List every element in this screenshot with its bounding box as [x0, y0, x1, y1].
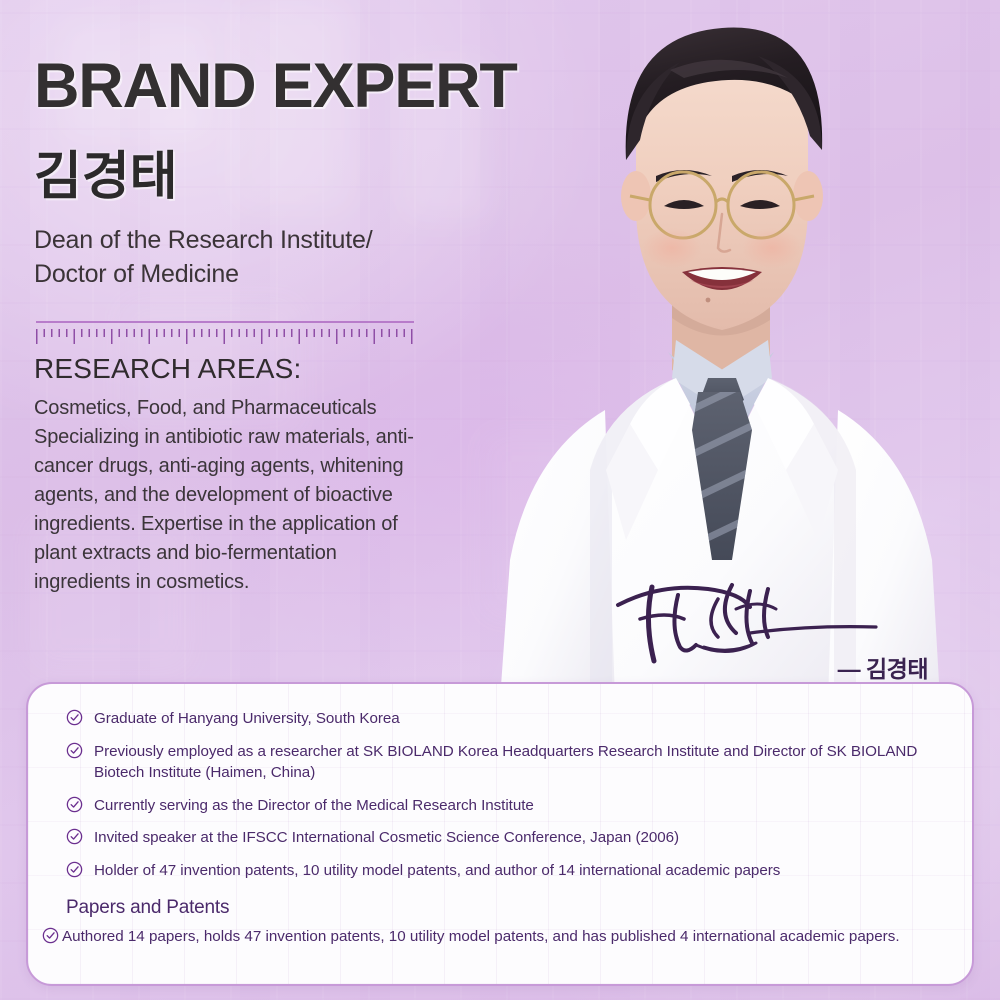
ruler-divider — [36, 321, 414, 345]
page-title: BRAND EXPERT — [34, 55, 620, 118]
research-areas-body: Cosmetics, Food, and Pharmaceuticals Spe… — [34, 394, 434, 597]
check-circle-icon — [66, 828, 83, 845]
role-line-2: Doctor of Medicine — [34, 257, 620, 291]
list-item: Graduate of Hanyang University, South Ko… — [66, 708, 950, 730]
check-circle-icon — [66, 861, 83, 878]
role-line-1: Dean of the Research Institute/ — [34, 223, 620, 257]
credential-text: Previously employed as a researcher at S… — [94, 741, 950, 784]
credential-text: Invited speaker at the IFSCC Internation… — [94, 827, 679, 849]
signature-name: — 김경태 — [838, 650, 928, 684]
list-item: Previously employed as a researcher at S… — [66, 741, 950, 784]
divider-line — [36, 321, 414, 323]
credentials-card: Graduate of Hanyang University, South Ko… — [26, 682, 974, 986]
list-item: Currently serving as the Director of the… — [66, 795, 950, 817]
role-text: Dean of the Research Institute/ Doctor o… — [34, 223, 620, 291]
check-circle-icon — [42, 927, 59, 949]
credential-text: Graduate of Hanyang University, South Ko… — [94, 708, 400, 730]
list-item: Holder of 47 invention patents, 10 utili… — [66, 860, 950, 882]
korean-name: 김경태 — [34, 151, 620, 203]
divider-ticks — [36, 329, 414, 345]
list-item: Invited speaker at the IFSCC Internation… — [66, 827, 950, 849]
papers-and-patents-heading: Papers and Patents — [66, 897, 950, 919]
check-circle-icon — [66, 742, 83, 759]
check-circle-icon — [66, 796, 83, 813]
credential-text: Currently serving as the Director of the… — [94, 795, 534, 817]
check-circle-icon — [66, 709, 83, 726]
papers-and-patents-row: Authored 14 papers, holds 47 invention p… — [42, 926, 950, 949]
research-areas-heading: RESEARCH AREAS: — [34, 353, 620, 385]
credential-text: Holder of 47 invention patents, 10 utili… — [94, 860, 780, 882]
signature-block: — 김경태 — [600, 575, 940, 690]
headline-block: BRAND EXPERT 김경태 Dean of the Research In… — [0, 0, 620, 597]
papers-and-patents-text: Authored 14 papers, holds 47 invention p… — [62, 926, 900, 947]
